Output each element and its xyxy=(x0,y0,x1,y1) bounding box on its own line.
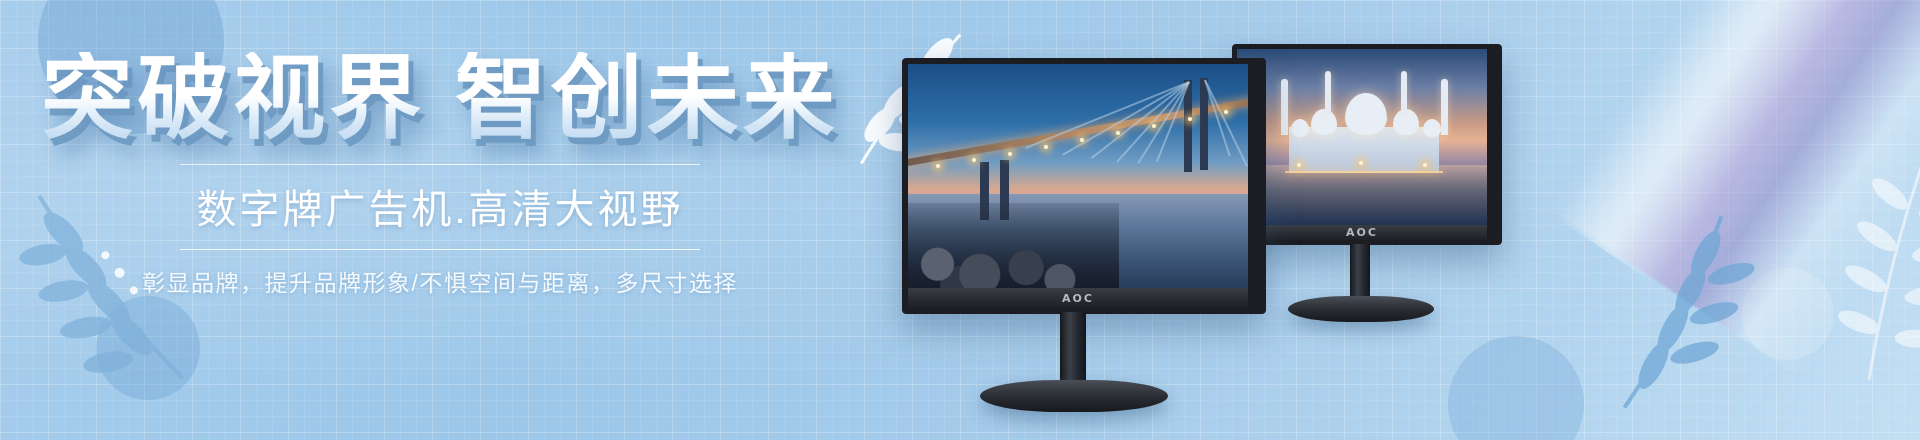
banner-subtitle: 数字牌广告机.高清大视野 xyxy=(0,177,880,235)
primary-monitor: AOC xyxy=(902,58,1266,314)
monitor-brand-label: AOC xyxy=(1062,292,1094,305)
leaf-branch-icon xyxy=(1571,206,1775,424)
banner-copy: 突破视界 智创未来 数字牌广告机.高清大视野 彰显品牌，提升品牌形象/不惧空间与… xyxy=(0,52,880,298)
promo-banner: 突破视界 智创未来 数字牌广告机.高清大视野 彰显品牌，提升品牌形象/不惧空间与… xyxy=(0,0,1920,440)
divider-bottom xyxy=(180,249,700,250)
monitor-brand-label: AOC xyxy=(1346,226,1378,239)
page-title: 突破视界 智创未来 xyxy=(0,52,880,148)
banner-tagline: 彰显品牌，提升品牌形象/不惧空间与距离，多尺寸选择 xyxy=(0,264,880,298)
divider-top xyxy=(180,164,700,165)
secondary-monitor: AOC xyxy=(1232,44,1502,245)
